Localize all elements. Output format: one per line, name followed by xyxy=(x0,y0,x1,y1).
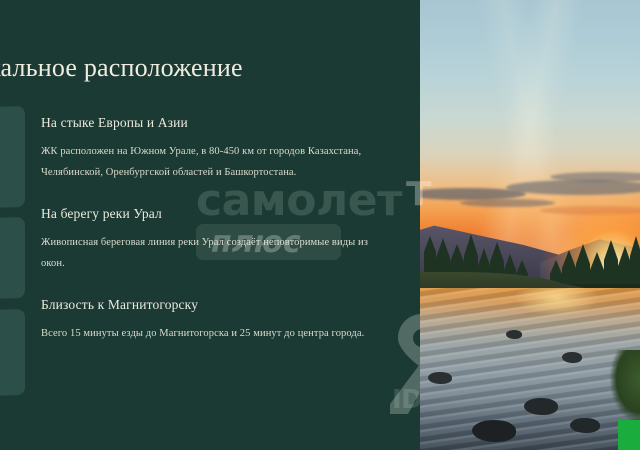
feature-heading: На стыке Европы и Азии xyxy=(41,114,391,132)
photo-rock xyxy=(472,420,516,442)
photo-shrub xyxy=(610,350,640,422)
photo-river-reflections xyxy=(420,288,640,450)
feature-heading: На берегу реки Урал xyxy=(41,205,391,223)
feature-heading: Близость к Магнитогорску xyxy=(41,296,391,314)
feature-list: На стыке Европы и Азии ЖК расположен на … xyxy=(41,114,391,344)
accent-green-block xyxy=(618,420,640,450)
page-title: икальное расположение xyxy=(0,52,394,84)
feature-item: На берегу реки Урал Живописная береговая… xyxy=(41,205,391,274)
photo-rock xyxy=(506,330,522,339)
feature-body: Живописная береговая линия реки Урал соз… xyxy=(41,232,391,274)
decorative-card-strip-1 xyxy=(0,106,25,209)
photo-rock xyxy=(570,418,600,433)
photo-rock xyxy=(562,352,582,363)
photo-cloud xyxy=(460,199,555,207)
feature-body: Всего 15 минуты езды до Магнитогорска и … xyxy=(41,323,391,344)
feature-item: Близость к Магнитогорску Всего 15 минуты… xyxy=(41,296,391,344)
decorative-card-strip-2 xyxy=(0,217,25,300)
hero-photo xyxy=(420,0,640,450)
feature-body: ЖК расположен на Южном Урале, в 80-450 к… xyxy=(41,141,391,183)
decorative-card-strip-3 xyxy=(0,309,25,397)
photo-rock xyxy=(524,398,558,415)
presentation-slide: икальное расположение На стыке Европы и … xyxy=(0,0,640,450)
photo-rock xyxy=(428,372,452,384)
content-panel: икальное расположение На стыке Европы и … xyxy=(0,0,424,450)
feature-item: На стыке Европы и Азии ЖК расположен на … xyxy=(41,114,391,183)
